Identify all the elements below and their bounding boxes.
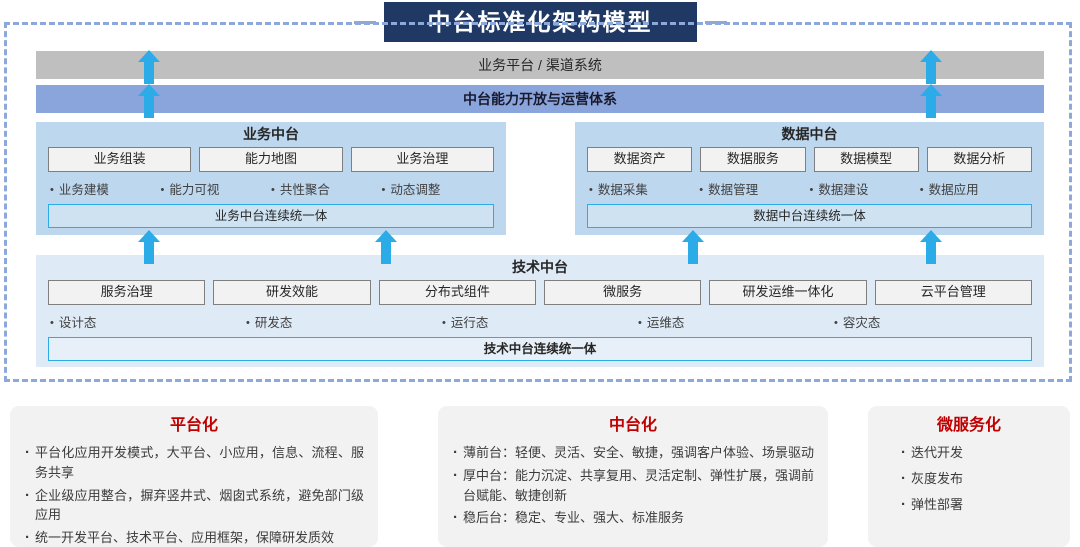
bullet-dot-icon: • <box>810 184 814 196</box>
bullet-data-2: •数据建设 <box>810 179 920 198</box>
bullet-business-2: •共性聚合 <box>271 179 382 198</box>
bullet-business-label-3: 动态调整 <box>390 183 440 197</box>
chip-technology-5[interactable]: 云平台管理 <box>875 280 1032 305</box>
bullet-technology-1: •研发态 <box>246 312 442 331</box>
bullet-dot-icon: • <box>50 317 54 329</box>
list-item: 统一开发平台、技术平台、应用框架，保障研发质效 <box>24 528 364 547</box>
panel-data-midplatform: 数据中台 数据资产 数据服务 数据模型 数据分析 •数据采集 •数据管理 •数据… <box>575 122 1044 235</box>
arrow-tech-to-data-right-icon <box>920 230 942 264</box>
bullet-technology-2: •运行态 <box>442 312 638 331</box>
bullet-technology-3: •运维态 <box>638 312 834 331</box>
bullet-data-label-1: 数据管理 <box>708 183 758 197</box>
summary-cards: 平台化 平台化应用开发模式，大平台、小应用，信息、流程、服务共享 企业级应用整合… <box>0 406 1080 547</box>
chip-data-1[interactable]: 数据服务 <box>700 147 805 172</box>
card-midplatformization: 中台化 薄前台：轻便、灵活、安全、敏捷，强调客户体验、场景驱动 厚中台：能力沉淀… <box>438 406 828 547</box>
chip-business-2[interactable]: 业务治理 <box>351 147 494 172</box>
chip-technology-3[interactable]: 微服务 <box>544 280 701 305</box>
list-item: 薄前台：轻便、灵活、安全、敏捷，强调客户体验、场景驱动 <box>452 443 814 463</box>
bullet-business-0: •业务建模 <box>50 179 161 198</box>
channel-system-bar: 业务平台 / 渠道系统 <box>36 51 1044 79</box>
bullet-technology-0: •设计态 <box>50 312 246 331</box>
bullet-dot-icon: • <box>271 184 275 196</box>
bullet-dot-icon: • <box>699 184 703 196</box>
arrow-data-to-capability-icon <box>920 50 942 84</box>
bullet-technology-label-3: 运维态 <box>647 316 685 330</box>
list-item: 弹性部署 <box>900 495 1056 515</box>
panel-business-chip-row: 业务组装 能力地图 业务治理 <box>36 147 506 172</box>
chip-business-1[interactable]: 能力地图 <box>199 147 342 172</box>
panel-technology-bullet-row: •设计态 •研发态 •运行态 •运维态 •容灾态 <box>36 312 1044 331</box>
continuum-business: 业务中台连续统一体 <box>48 204 494 228</box>
panel-business-title: 业务中台 <box>36 126 506 143</box>
panel-business-midplatform: 业务中台 业务组装 能力地图 业务治理 •业务建模 •能力可视 •共性聚合 •动… <box>36 122 506 235</box>
bullet-dot-icon: • <box>382 184 386 196</box>
bullet-business-1: •能力可视 <box>161 179 272 198</box>
chip-data-3[interactable]: 数据分析 <box>927 147 1032 172</box>
bullet-dot-icon: • <box>638 317 642 329</box>
bullet-technology-label-1: 研发态 <box>255 316 293 330</box>
bullet-business-label-0: 业务建模 <box>59 183 109 197</box>
list-item: 稳后台：稳定、专业、强大、标准服务 <box>452 508 814 528</box>
bullet-technology-4: •容灾态 <box>834 312 1030 331</box>
channel-system-label: 业务平台 / 渠道系统 <box>478 55 602 75</box>
list-item: 迭代开发 <box>900 443 1056 463</box>
capability-operation-label: 中台能力开放与运营体系 <box>463 89 617 109</box>
bullet-business-label-1: 能力可视 <box>169 183 219 197</box>
bullet-dot-icon: • <box>589 184 593 196</box>
bullet-data-0: •数据采集 <box>589 179 699 198</box>
chip-technology-2[interactable]: 分布式组件 <box>379 280 536 305</box>
arrow-biz-to-capability-icon <box>138 50 160 84</box>
chip-data-2[interactable]: 数据模型 <box>814 147 919 172</box>
card-midplatformization-title: 中台化 <box>452 416 814 435</box>
panel-data-bullet-row: •数据采集 •数据管理 •数据建设 •数据应用 <box>575 179 1044 198</box>
bullet-data-label-2: 数据建设 <box>818 183 868 197</box>
bullet-dot-icon: • <box>920 184 924 196</box>
bullet-business-3: •动态调整 <box>382 179 493 198</box>
panel-technology-title: 技术中台 <box>36 259 1044 276</box>
card-platformization-list: 平台化应用开发模式，大平台、小应用，信息、流程、服务共享 企业级应用整合，摒弃竖… <box>24 443 364 547</box>
bullet-data-label-3: 数据应用 <box>929 183 979 197</box>
bullet-dot-icon: • <box>161 184 165 196</box>
arrow-tech-to-data-left-icon <box>682 230 704 264</box>
panel-data-title: 数据中台 <box>575 126 1044 143</box>
chip-business-0[interactable]: 业务组装 <box>48 147 191 172</box>
bullet-business-label-2: 共性聚合 <box>280 183 330 197</box>
list-item: 平台化应用开发模式，大平台、小应用，信息、流程、服务共享 <box>24 443 364 483</box>
bullet-data-3: •数据应用 <box>920 179 1030 198</box>
card-platformization: 平台化 平台化应用开发模式，大平台、小应用，信息、流程、服务共享 企业级应用整合… <box>10 406 378 547</box>
bullet-dot-icon: • <box>246 317 250 329</box>
list-item: 厚中台：能力沉淀、共享复用、灵活定制、弹性扩展，强调前台赋能、敏捷创新 <box>452 466 814 506</box>
bullet-dot-icon: • <box>834 317 838 329</box>
panel-business-bullet-row: •业务建模 •能力可视 •共性聚合 •动态调整 <box>36 179 506 198</box>
chip-technology-4[interactable]: 研发运维一体化 <box>709 280 866 305</box>
chip-data-0[interactable]: 数据资产 <box>587 147 692 172</box>
card-microservitization: 微服务化 迭代开发 灰度发布 弹性部署 <box>868 406 1070 547</box>
chip-technology-1[interactable]: 研发效能 <box>213 280 370 305</box>
bullet-data-label-0: 数据采集 <box>598 183 648 197</box>
bullet-technology-label-2: 运行态 <box>451 316 489 330</box>
bullet-technology-label-0: 设计态 <box>59 316 97 330</box>
panel-technology-midplatform: 技术中台 服务治理 研发效能 分布式组件 微服务 研发运维一体化 云平台管理 •… <box>36 255 1044 367</box>
card-platformization-title: 平台化 <box>24 416 364 435</box>
bullet-dot-icon: • <box>50 184 54 196</box>
list-item: 企业级应用整合，摒弃竖井式、烟囱式系统，避免部门级应用 <box>24 486 364 526</box>
arrow-biz-capability-to-channel-icon <box>138 84 160 118</box>
capability-operation-bar: 中台能力开放与运营体系 <box>36 85 1044 113</box>
panel-data-chip-row: 数据资产 数据服务 数据模型 数据分析 <box>575 147 1044 172</box>
panel-technology-chip-row: 服务治理 研发效能 分布式组件 微服务 研发运维一体化 云平台管理 <box>36 280 1044 305</box>
card-microservitization-list: 迭代开发 灰度发布 弹性部署 <box>900 443 1056 514</box>
arrow-tech-to-biz-left-icon <box>138 230 160 264</box>
chip-technology-0[interactable]: 服务治理 <box>48 280 205 305</box>
arrow-tech-to-biz-right-icon <box>375 230 397 264</box>
card-midplatformization-list: 薄前台：轻便、灵活、安全、敏捷，强调客户体验、场景驱动 厚中台：能力沉淀、共享复… <box>452 443 814 528</box>
bullet-technology-label-4: 容灾态 <box>843 316 881 330</box>
list-item: 灰度发布 <box>900 469 1056 489</box>
architecture-diagram: 中台标准化架构模型 业务平台 / 渠道系统 中台能力开放与运营体系 业务中台 业… <box>0 0 1080 547</box>
bullet-data-1: •数据管理 <box>699 179 809 198</box>
bullet-dot-icon: • <box>442 317 446 329</box>
card-microservitization-title: 微服务化 <box>882 416 1056 435</box>
arrow-data-capability-to-channel-icon <box>920 84 942 118</box>
continuum-data: 数据中台连续统一体 <box>587 204 1032 228</box>
continuum-technology: 技术中台连续统一体 <box>48 337 1032 361</box>
